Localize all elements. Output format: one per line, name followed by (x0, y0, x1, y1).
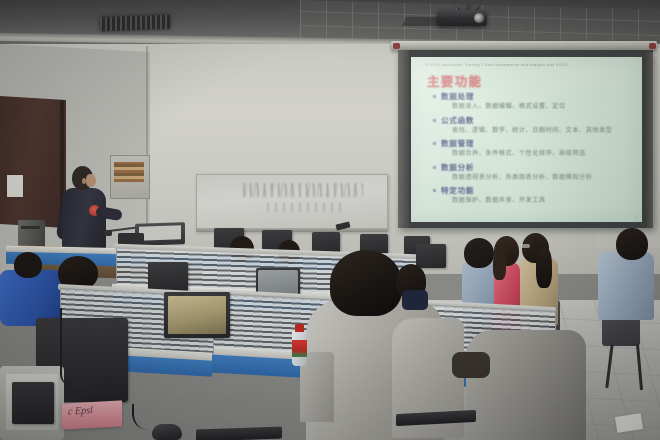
slide-section-detail: 查找、逻辑、数学、统计、日期时间、文本、其他类型 (433, 126, 636, 136)
projected-slide: OFFICE Application Training 1 Data Manag… (411, 57, 642, 222)
right-attendee-body (466, 330, 586, 440)
glasses-icon (521, 244, 530, 248)
monitor-screen (12, 382, 54, 424)
cable (132, 404, 156, 430)
monitor-cable (60, 308, 72, 386)
student-head (14, 252, 42, 278)
slide-section-heading: 数据分析 (433, 162, 636, 173)
slide-header-text: OFFICE Application Training 1 Data Manag… (425, 63, 634, 67)
posted-paper (7, 175, 23, 197)
presenter-body (62, 188, 106, 250)
optical-drive-slot (21, 226, 40, 229)
wood-cabinet (0, 96, 66, 228)
slide-section: 数据分析 数据透视表分析、各类图表分析、数据模拟分析 (433, 162, 636, 183)
slide-section: 数据处理 数据录入、数据编辑、格式设置、定位 (433, 91, 636, 112)
slide-section-heading: 公式函数 (433, 115, 636, 126)
slide-section: 特定功能 数据保护、数据共享、开发工具 (433, 185, 636, 206)
attendee-body (598, 252, 654, 320)
pink-sign-text: c Epsl (68, 405, 93, 418)
attendee-hair (536, 246, 552, 288)
monitor-screen-lit (168, 296, 226, 334)
monitor (148, 262, 188, 292)
microphone-base (104, 230, 112, 236)
slide-section: 公式函数 查找、逻辑、数学、统计、日期时间、文本、其他类型 (433, 115, 636, 136)
water-bottle-cap (295, 324, 304, 332)
slide-section-heading: 数据处理 (433, 91, 636, 102)
slide-section-detail: 数据保护、数据共享、开发工具 (433, 196, 636, 206)
slide-section-detail: 数据透视表分析、各类图表分析、数据模拟分析 (433, 173, 636, 183)
slide-bullet-list: 数据处理 数据录入、数据编辑、格式设置、定位 公式函数 查找、逻辑、数学、统计、… (433, 91, 636, 209)
attendee-collar (402, 290, 428, 310)
slide-section-detail: 数据合并、条件格式、个性化排序、高级筛选 (433, 149, 636, 159)
screen-roller-end-right (649, 43, 656, 49)
screen-edge-left (398, 50, 409, 228)
computer-mouse (152, 424, 182, 440)
screen-edge-right (644, 52, 653, 228)
presenter-face (86, 174, 96, 187)
slide-section: 数据管理 数据合并、条件格式、个性化排序、高级筛选 (433, 138, 636, 159)
monitor (416, 244, 446, 268)
attendee-head (464, 238, 494, 268)
whiteboard-writing (267, 203, 341, 212)
projector-lens-icon (474, 13, 484, 23)
laptop-screen (139, 225, 181, 240)
water-bottle-label (292, 340, 307, 357)
right-attendee-hand (452, 352, 490, 378)
presenter-ear (82, 178, 86, 184)
slide-page-number: 1 (635, 215, 637, 219)
ceiling-vent-icon (100, 15, 170, 31)
wall-seam (146, 46, 148, 226)
slide-section-detail: 数据录入、数据编辑、格式设置、定位 (433, 102, 636, 112)
classroom-photo: OFFICE Application Training 1 Data Manag… (0, 0, 660, 440)
slide-section-heading: 数据管理 (433, 138, 636, 149)
whiteboard (196, 174, 388, 232)
slide-title: 主要功能 (427, 71, 482, 90)
screen-roller-end-left (393, 43, 400, 49)
attendee-head (616, 228, 648, 260)
slide-section-heading: 特定功能 (433, 185, 636, 196)
keyboard (196, 426, 282, 440)
wall-picture-content (114, 162, 144, 182)
attendee-hair (493, 250, 506, 280)
whiteboard-writing (243, 183, 363, 197)
foreground-attendee-head (330, 250, 402, 316)
